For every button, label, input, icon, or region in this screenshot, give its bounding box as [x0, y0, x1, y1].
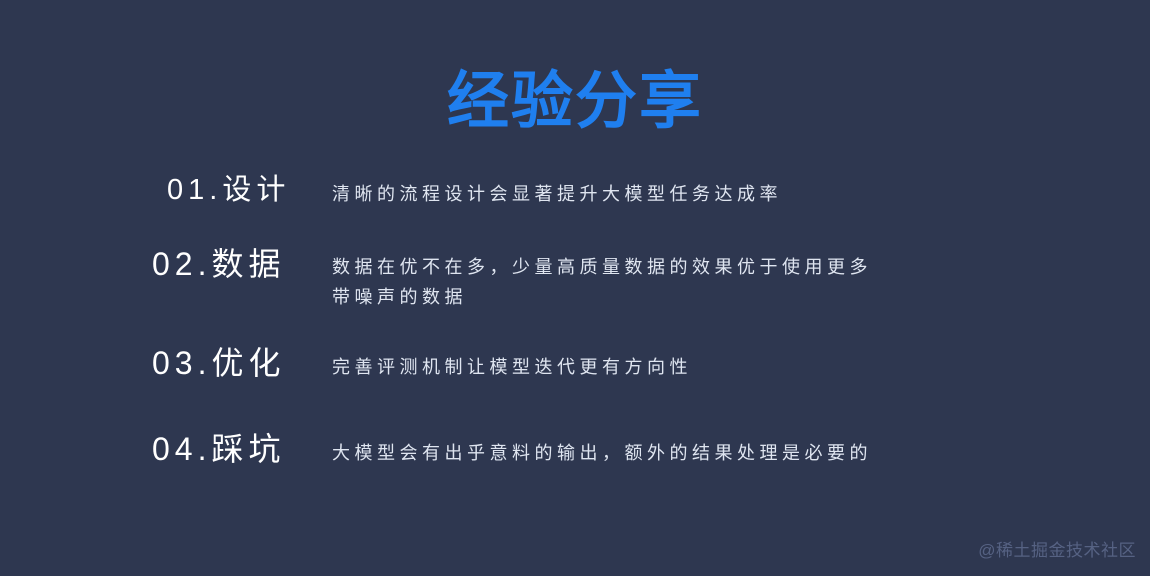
list-item-label: 02.数据: [152, 244, 332, 284]
presentation-slide: 经验分享 01.设计 清晰的流程设计会显著提升大模型任务达成率 02.数据 数据…: [0, 0, 1150, 576]
list-item: 04.踩坑 大模型会有出乎意料的输出，额外的结果处理是必要的: [0, 429, 1150, 469]
list-item-body: 完善评测机制让模型迭代更有方向性: [332, 352, 692, 382]
list-item-label: 03.优化: [152, 343, 332, 383]
list-item: 02.数据 数据在优不在多，少量高质量数据的效果优于使用更多 带噪声的数据: [0, 244, 1150, 312]
list-item: 01.设计 清晰的流程设计会显著提升大模型任务达成率: [0, 172, 1150, 209]
list-item-body: 清晰的流程设计会显著提升大模型任务达成率: [332, 179, 782, 209]
list-item-body: 数据在优不在多，少量高质量数据的效果优于使用更多 带噪声的数据: [332, 252, 872, 312]
list-item: 03.优化 完善评测机制让模型迭代更有方向性: [0, 343, 1150, 383]
list-item-body: 大模型会有出乎意料的输出，额外的结果处理是必要的: [332, 438, 872, 468]
page-title: 经验分享: [0, 66, 1150, 138]
watermark: @稀土掘金技术社区: [978, 540, 1136, 562]
list-item-label: 04.踩坑: [152, 429, 332, 469]
list-item-label: 01.设计: [167, 172, 332, 208]
